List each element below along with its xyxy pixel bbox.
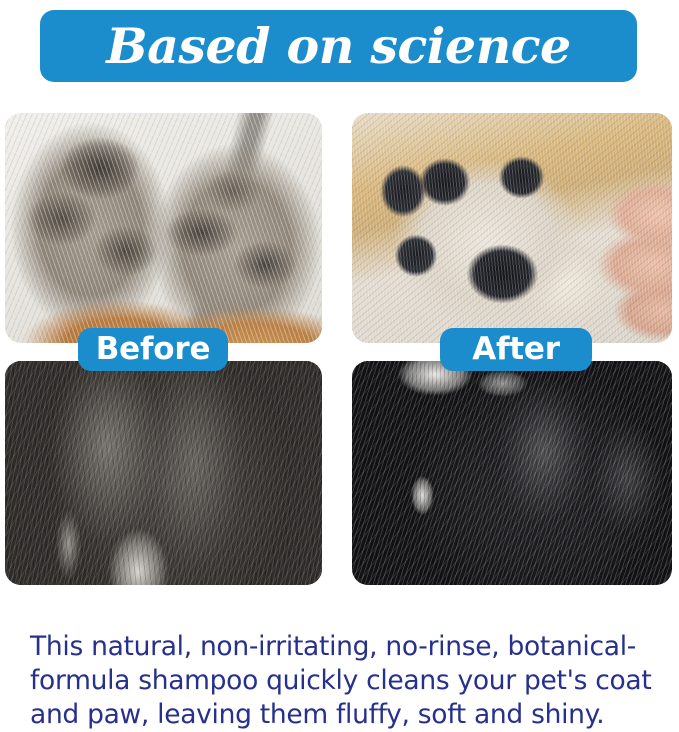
photo-after-coat — [352, 361, 672, 585]
photo-after-paw — [352, 113, 672, 343]
badge-after: After — [440, 328, 592, 371]
photo-after-coat-image — [352, 361, 672, 585]
photo-before-paws — [5, 113, 322, 343]
photo-before-coat-image — [5, 361, 322, 585]
photo-before-paws-image — [5, 113, 322, 343]
page-title: Based on science — [106, 22, 570, 71]
photo-after-paw-image — [352, 113, 672, 343]
photo-before-coat — [5, 361, 322, 585]
header-banner: Based on science — [40, 10, 637, 82]
badge-before: Before — [78, 328, 228, 371]
product-description: This natural, non-irritating, no-rinse, … — [30, 630, 655, 732]
